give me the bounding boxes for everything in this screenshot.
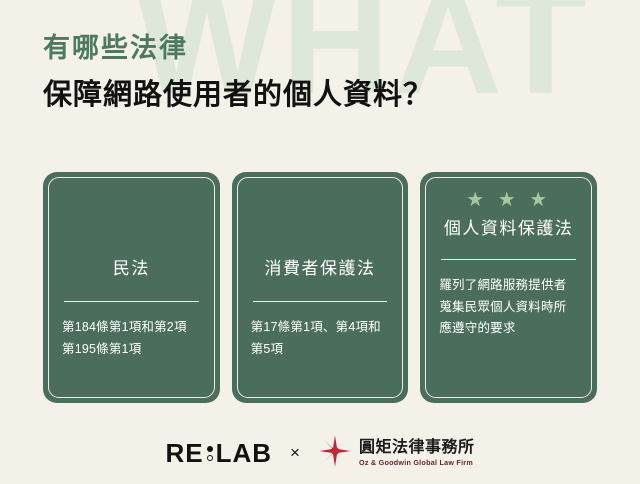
card-divider [441,259,576,260]
law-card-consumer-protection: 消費者保護法 第17條第1項、第4項和 第5項 [232,172,409,403]
card-body-line: 蒐集民眾個人資料時所 [439,297,578,319]
card-body: 羅列了網路服務提供者 蒐集民眾個人資料時所 應遵守的要求 [439,275,578,340]
header: 有哪些法律 保障網路使用者的個人資料？ [43,32,433,113]
collaboration-cross: × [290,443,300,463]
dot-filled-icon [207,446,213,452]
card-body-line: 第195條第1項 [62,339,201,361]
footer: RE LAB × 圓 [0,428,640,478]
card-title: 消費者保護法 [251,258,390,280]
law-firm-logo: 圓矩法律事務所 Oz & Goodwin Global Law Firm [318,434,475,473]
page-title: 保障網路使用者的個人資料？ [43,77,433,113]
card-inner: 民法 第184條第1項和第2項 第195條第1項 [48,177,215,398]
law-firm-text: 圓矩法律事務所 Oz & Goodwin Global Law Firm [359,440,475,466]
card-body-line: 羅列了網路服務提供者 [439,275,578,297]
card-divider [253,301,388,302]
card-body-line: 第5項 [251,339,390,361]
card-body-line: 應遵守的要求 [439,318,578,340]
card-divider [64,301,199,302]
card-inner: ★ ★ ★ 個人資料保護法 羅列了網路服務提供者 蒐集民眾個人資料時所 應遵守的… [425,177,592,398]
card-body-line: 第184條第1項和第2項 [62,317,201,339]
card-title: 民法 [62,258,201,280]
law-firm-name-en: Oz & Goodwin Global Law Firm [359,459,475,466]
card-body-line: 第17條第1項、第4項和 [251,317,390,339]
stars-placeholder [251,192,390,216]
card-body: 第17條第1項、第4項和 第5項 [251,317,390,360]
dot-hollow-icon [207,455,213,461]
relab-logo-prefix: RE [165,440,203,466]
relab-logo-suffix: LAB [216,440,272,466]
card-title: 個人資料保護法 [439,218,578,240]
starburst-icon [318,434,352,473]
three-stars-icon: ★ ★ ★ [439,190,578,212]
law-firm-name-cn: 圓矩法律事務所 [359,440,475,456]
law-card-list: 民法 第184條第1項和第2項 第195條第1項 消費者保護法 第17條第1項、… [43,172,597,403]
law-card-civil-code: 民法 第184條第1項和第2項 第195條第1項 [43,172,220,403]
relab-colon-icon [207,446,213,461]
relab-logo: RE LAB [165,440,272,466]
stars-placeholder [62,192,201,216]
page-subtitle: 有哪些法律 [43,32,433,66]
card-inner: 消費者保護法 第17條第1項、第4項和 第5項 [237,177,404,398]
card-body: 第184條第1項和第2項 第195條第1項 [62,317,201,360]
law-card-personal-data-protection: ★ ★ ★ 個人資料保護法 羅列了網路服務提供者 蒐集民眾個人資料時所 應遵守的… [420,172,597,403]
